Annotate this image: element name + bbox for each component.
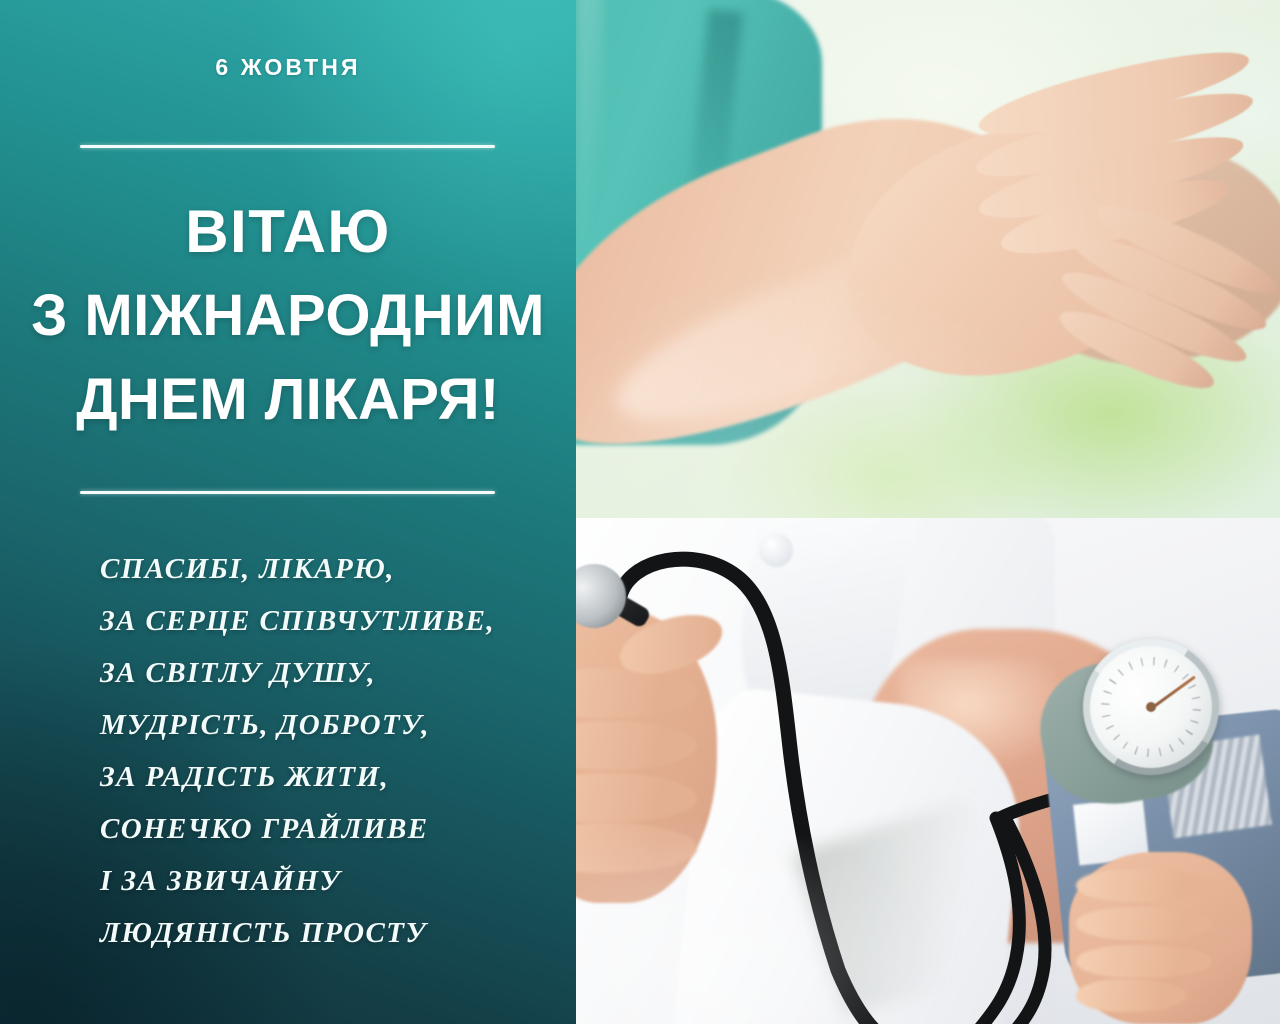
divider-top [80,145,495,148]
poem-line: ЗА РАДІСТЬ ЖИТИ, [100,751,560,803]
photo-soft-light [576,518,1280,1024]
title-line-3: ДНЕМ ЛІКАРЯ! [0,358,576,442]
poem-line: І ЗА ЗВИЧАЙНУ [100,855,560,907]
date-label: 6 ЖОВТНЯ [0,52,576,82]
photo-nurse-holding-hand [576,0,1280,518]
text-panel: 6 ЖОВТНЯ ВІТАЮ З МІЖНАРОДНИМ ДНЕМ ЛІКАРЯ… [0,0,576,1024]
greeting-card: 6 ЖОВТНЯ ВІТАЮ З МІЖНАРОДНИМ ДНЕМ ЛІКАРЯ… [0,0,1280,1024]
poem-line: СПАСИБІ, ЛІКАРЮ, [100,543,560,595]
poem-block: СПАСИБІ, ЛІКАРЮ, ЗА СЕРЦЕ СПІВЧУТЛИВЕ, З… [100,543,560,959]
divider-bottom [80,491,495,494]
poem-line: ЗА СЕРЦЕ СПІВЧУТЛИВЕ, [100,595,560,647]
photo-blood-pressure-exam [576,518,1280,1024]
page-title: ВІТАЮ З МІЖНАРОДНИМ ДНЕМ ЛІКАРЯ! [0,190,576,442]
title-line-2: З МІЖНАРОДНИМ [0,274,576,358]
poem-line: МУДРІСТЬ, ДОБРОТУ, [100,699,560,751]
poem-line: ЗА СВІТЛУ ДУШУ, [100,647,560,699]
poem-line: ЛЮДЯНІСТЬ ПРОСТУ [100,907,560,959]
poem-line: СОНЕЧКО ГРАЙЛИВЕ [100,803,560,855]
title-line-1: ВІТАЮ [0,190,576,274]
photo-column [576,0,1280,1024]
photo-soft-light [576,0,1280,518]
